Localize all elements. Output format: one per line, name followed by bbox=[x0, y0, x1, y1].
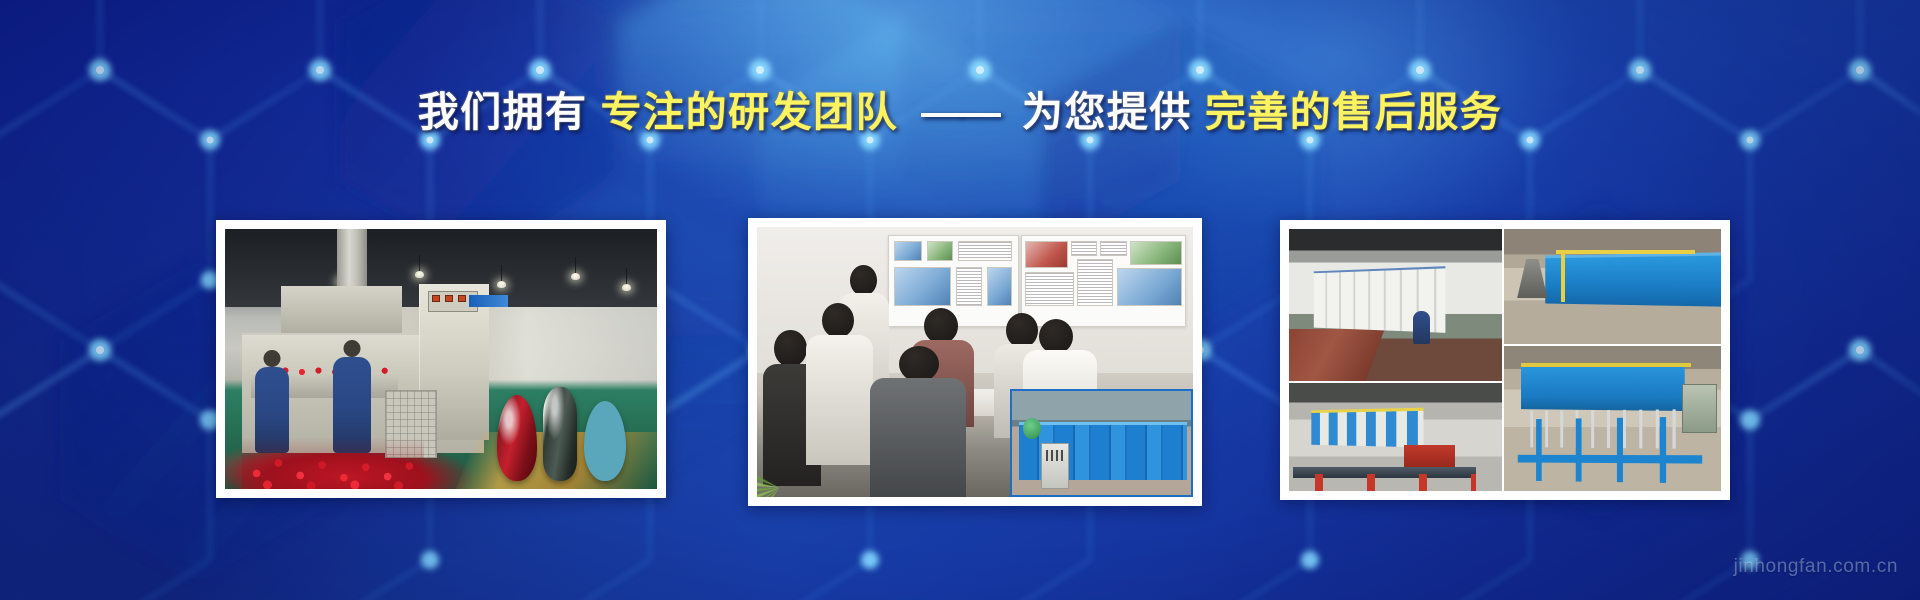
collage-cell-top-right bbox=[1504, 229, 1721, 344]
green-machine-part bbox=[1023, 418, 1041, 439]
poster-diagram bbox=[987, 267, 1013, 307]
yellow-gas-pipe bbox=[1556, 250, 1695, 254]
headline-segment-2: 专注的研发团队 bbox=[601, 89, 899, 135]
poster-diagram bbox=[894, 267, 951, 307]
glass-vase-blue bbox=[584, 401, 626, 481]
certificate-thumbnail bbox=[1100, 241, 1126, 255]
ceiling-lamp-icon bbox=[571, 273, 580, 280]
collage-cell-bottom-right bbox=[1504, 346, 1721, 491]
blue-tunnel-furnace bbox=[1521, 365, 1684, 410]
control-button bbox=[458, 295, 466, 302]
person-head bbox=[924, 308, 958, 344]
ceiling-lamp-icon bbox=[622, 284, 631, 291]
collage-photo-content bbox=[1289, 229, 1721, 491]
poster-photo bbox=[1130, 241, 1182, 264]
headline-segment-1: 我们拥有 bbox=[418, 89, 588, 135]
factory-worker bbox=[1413, 311, 1430, 344]
poster-thumbnail bbox=[927, 241, 953, 261]
promo-banner: 我们拥有 专注的研发团队 —— 为您提供 完善的售后服务 bbox=[0, 0, 1920, 600]
poster-thumbnail bbox=[894, 241, 922, 261]
red-workpieces-pile bbox=[242, 437, 423, 489]
factory-floor bbox=[1289, 329, 1385, 381]
person-torso bbox=[870, 378, 966, 497]
ceiling-lamp-icon bbox=[415, 271, 424, 278]
headline-segment-5: 完善的售后服务 bbox=[1205, 89, 1503, 135]
person-head bbox=[822, 303, 854, 339]
red-support-legs bbox=[1293, 474, 1476, 491]
poster-text-block bbox=[958, 241, 1012, 261]
meeting-photo-content bbox=[757, 227, 1193, 497]
ceiling-lamp-icon bbox=[497, 281, 506, 288]
blue-tunnel-furnace bbox=[1545, 253, 1721, 307]
back-facing-attendee bbox=[870, 346, 966, 497]
site-watermark: jinhongfan.com.cn bbox=[1734, 556, 1898, 578]
potted-palm-plant bbox=[757, 400, 879, 497]
production-line-inset-photo bbox=[1010, 389, 1193, 497]
person-head bbox=[1039, 319, 1073, 354]
exhaust-hood bbox=[1517, 259, 1547, 298]
control-cabinet bbox=[1041, 443, 1070, 489]
collage-cell-top-left bbox=[1289, 229, 1502, 381]
yellow-gas-pipe bbox=[1561, 251, 1565, 302]
headline-dash-separator: —— bbox=[911, 89, 1009, 135]
person-head bbox=[850, 265, 877, 296]
machine-label bbox=[469, 295, 508, 307]
blue-conveyor-frame bbox=[1518, 417, 1703, 484]
poster-text-block bbox=[956, 267, 982, 307]
customer-meeting-photo[interactable] bbox=[748, 218, 1202, 506]
person-head bbox=[899, 346, 939, 382]
banner-headline: 我们拥有 专注的研发团队 —— 为您提供 完善的售后服务 bbox=[0, 88, 1920, 136]
poster-text-block bbox=[1077, 259, 1113, 306]
glass-vase-black bbox=[543, 387, 577, 481]
collage-cell-bottom-left bbox=[1289, 383, 1502, 491]
yellow-gas-pipe bbox=[1521, 363, 1690, 367]
control-button bbox=[432, 295, 440, 302]
production-line-collage-photo[interactable] bbox=[1280, 220, 1730, 500]
poster-diagram bbox=[1117, 268, 1182, 306]
factory-photo-content bbox=[225, 229, 657, 489]
factory-production-photo[interactable] bbox=[216, 220, 666, 498]
person-head bbox=[774, 330, 807, 368]
control-button bbox=[445, 295, 453, 302]
poster-photo bbox=[1025, 241, 1068, 268]
headline-segment-4: 为您提供 bbox=[1022, 89, 1192, 135]
poster-text-block bbox=[1025, 272, 1074, 306]
blue-white-oven bbox=[1311, 407, 1423, 447]
glass-vase-red bbox=[497, 395, 537, 481]
certificate-thumbnail bbox=[1071, 241, 1097, 255]
